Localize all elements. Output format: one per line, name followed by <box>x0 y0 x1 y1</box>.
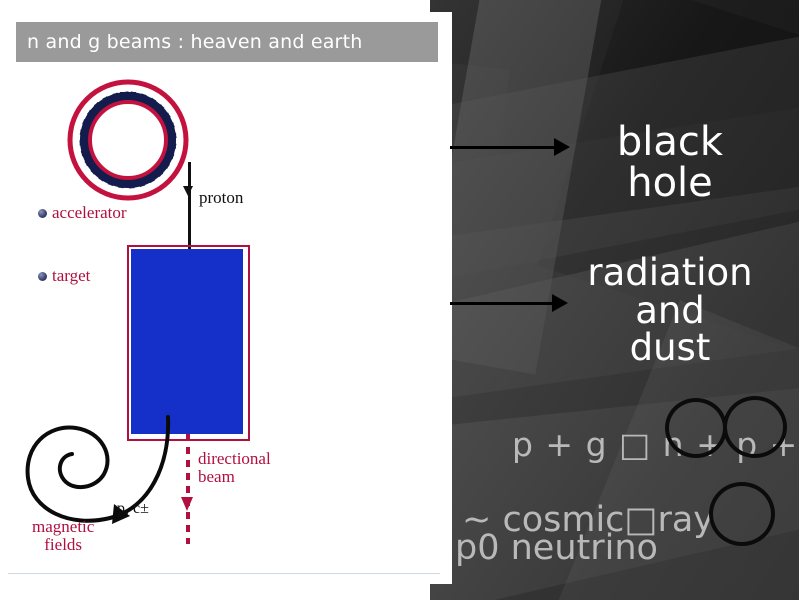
proton-label: proton <box>199 188 243 208</box>
panel-left-margin <box>430 12 452 584</box>
black-hole-callout: black hole <box>560 122 780 204</box>
bullet-icon <box>38 272 47 281</box>
magnetic-fields-label: magnetic fields <box>32 518 94 554</box>
proton-arrowhead-icon <box>183 186 193 196</box>
directional-beam-dashed-line <box>186 434 190 544</box>
accelerator-diagram: proton accelerator target magnetic field… <box>0 0 430 600</box>
accelerator-ring-icon <box>66 78 190 202</box>
radiation-and-dust-callout: radiation and dust <box>545 254 795 367</box>
target-block <box>131 249 243 434</box>
annotation-circle-icon <box>723 396 787 458</box>
radiation-arrow-line <box>450 302 554 305</box>
directional-beam-arrowhead-icon <box>181 497 193 511</box>
target-label: target <box>52 266 90 286</box>
proton-beam-line <box>188 162 191 252</box>
bullet-icon <box>38 209 47 218</box>
accelerator-label: accelerator <box>52 203 127 223</box>
annotation-circle-icon <box>665 398 727 458</box>
black-hole-arrow-line <box>450 146 556 149</box>
bottom-divider <box>8 573 440 574</box>
particles-label: p, c± <box>117 500 149 518</box>
neutrino-text: p0 neutrino <box>455 528 658 568</box>
slide-canvas: n and g beams : heaven and earth <box>0 0 799 600</box>
directional-beam-label: directional beam <box>198 450 271 486</box>
annotation-circle-icon <box>709 482 775 546</box>
